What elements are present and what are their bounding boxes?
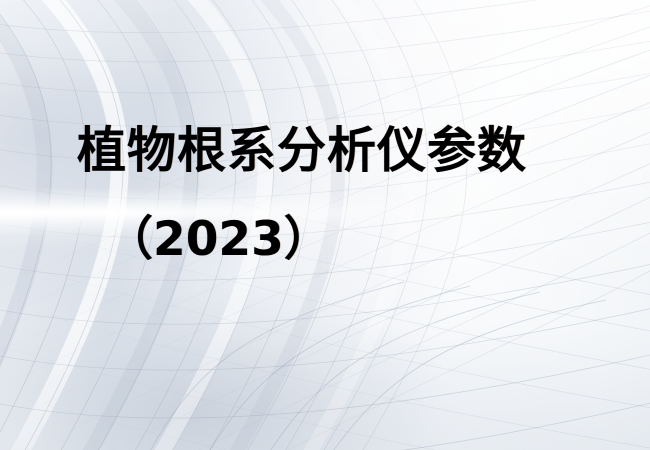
page-title-year: （2023） (106, 216, 331, 263)
title-block: 植物根系分析仪参数 （2023） (0, 0, 650, 450)
title-slide: 植物根系分析仪参数 （2023） (0, 0, 650, 450)
page-title: 植物根系分析仪参数 (77, 126, 527, 175)
